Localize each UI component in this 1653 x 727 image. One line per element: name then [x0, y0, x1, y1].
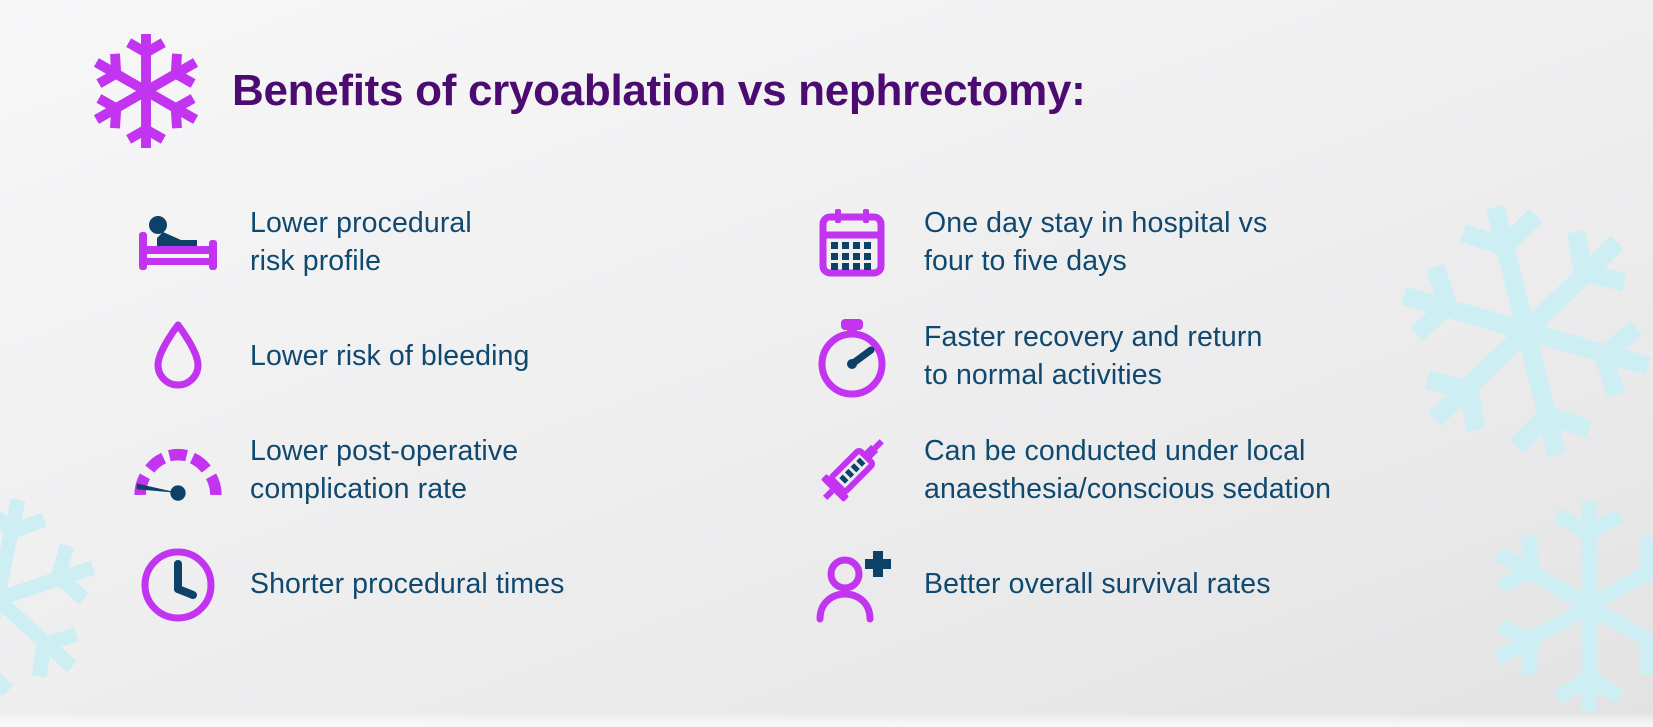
- benefit-label: Lower post-operative complication rate: [250, 433, 518, 508]
- benefit-label: Lower risk of bleeding: [250, 338, 529, 376]
- benefits-column-left: Lower procedural risk profile Lower risk…: [132, 186, 732, 642]
- benefit-label: Better overall survival rates: [924, 566, 1271, 604]
- benefit-label: One day stay in hospital vs four to five…: [924, 205, 1267, 280]
- snowflake-icon: [84, 26, 208, 156]
- stopwatch-icon: [806, 317, 898, 397]
- infographic-slide: Benefits of cryoablation vs nephrectomy:…: [0, 0, 1653, 727]
- gauge-icon: [132, 431, 224, 511]
- syringe-icon: [806, 431, 898, 511]
- hospital-bed-icon: [132, 203, 224, 283]
- benefit-label: Shorter procedural times: [250, 566, 564, 604]
- blood-drop-icon: [132, 317, 224, 397]
- snowflake-decoration-right-bottom-icon: [1469, 486, 1653, 726]
- benefit-label: Faster recovery and return to normal act…: [924, 319, 1262, 394]
- clock-icon: [132, 545, 224, 625]
- page-title: Benefits of cryoablation vs nephrectomy:: [232, 67, 1086, 115]
- benefit-item-faster-recovery: Faster recovery and return to normal act…: [806, 300, 1466, 414]
- benefit-item-lower-complication-rate: Lower post-operative complication rate: [132, 414, 732, 528]
- person-plus-icon: [806, 545, 898, 625]
- bottom-band: [0, 713, 1653, 727]
- benefit-item-better-survival-rates: Better overall survival rates: [806, 528, 1466, 642]
- benefit-item-lower-procedural-risk: Lower procedural risk profile: [132, 186, 732, 300]
- benefits-column-right: One day stay in hospital vs four to five…: [806, 186, 1466, 642]
- benefit-label: Lower procedural risk profile: [250, 205, 472, 280]
- header: Benefits of cryoablation vs nephrectomy:: [84, 26, 1086, 156]
- benefit-label: Can be conducted under local anaesthesia…: [924, 433, 1331, 508]
- benefit-item-lower-risk-bleeding: Lower risk of bleeding: [132, 300, 732, 414]
- benefit-item-shorter-procedural-times: Shorter procedural times: [132, 528, 732, 642]
- snowflake-decoration-left-bottom-icon: [0, 463, 133, 727]
- benefit-item-one-day-stay: One day stay in hospital vs four to five…: [806, 186, 1466, 300]
- calendar-icon: [806, 203, 898, 283]
- benefit-item-local-anaesthesia: Can be conducted under local anaesthesia…: [806, 414, 1466, 528]
